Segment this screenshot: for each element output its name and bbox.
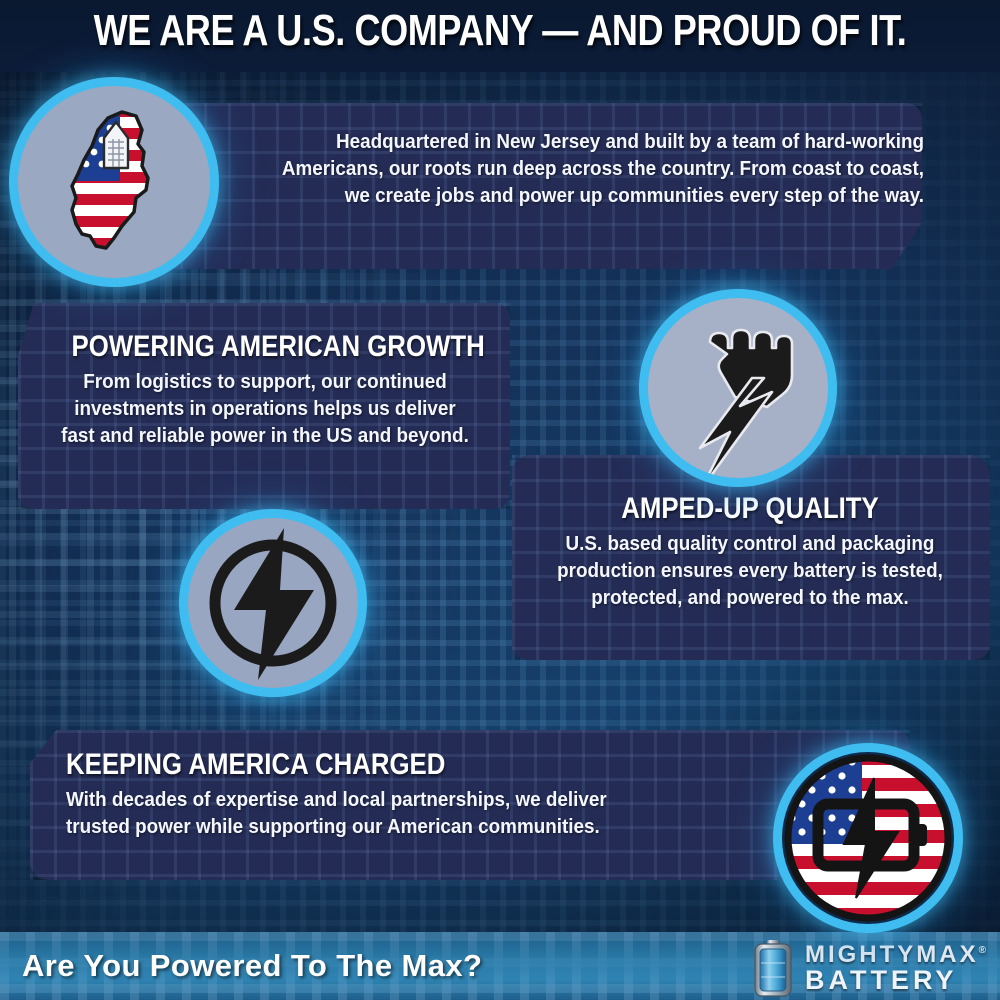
fist-lightning-bolt-icon: [648, 298, 828, 478]
page-title: WE ARE A U.S. COMPANY — AND PROUD OF IT.: [90, 6, 910, 56]
logo-line-2: BATTERY: [805, 967, 986, 994]
logo-line-1: MIGHTYMAX®: [805, 943, 986, 967]
flag-battery-charge-icon: [782, 752, 954, 924]
section-charged-body: With decades of expertise and local part…: [66, 786, 655, 840]
section-quality-text: AMPED-UP QUALITY U.S. based quality cont…: [520, 492, 980, 611]
bolt-ring-svg: [188, 518, 358, 688]
battery-logo-icon: [751, 939, 795, 997]
nj-map-svg: [18, 86, 210, 278]
flag-battery-svg: [782, 752, 954, 924]
section-growth-text: POWERING AMERICAN GROWTH From logistics …: [40, 330, 490, 449]
section-headquarters-body: Headquartered in New Jersey and built by…: [258, 128, 924, 209]
section-charged-text: KEEPING AMERICA CHARGED With decades of …: [66, 748, 706, 840]
fist-bolt-svg: [648, 298, 828, 478]
footer-band: Are You Powered To The Max?: [0, 932, 1000, 1000]
lightning-bolt-circle-icon: [188, 518, 358, 688]
section-growth-title: POWERING AMERICAN GROWTH: [72, 330, 459, 364]
brand-logo[interactable]: MIGHTYMAX® BATTERY: [751, 938, 986, 998]
section-growth-body: From logistics to support, our continued…: [58, 368, 472, 449]
infographic-canvas: WE ARE A U.S. COMPANY — AND PROUD OF IT.…: [0, 0, 1000, 1000]
section-quality-body: U.S. based quality control and packaging…: [538, 530, 961, 611]
new-jersey-flag-map-icon: [18, 86, 210, 278]
section-charged-title: KEEPING AMERICA CHARGED: [66, 748, 616, 782]
footer-tagline: Are You Powered To The Max?: [22, 948, 482, 984]
section-headquarters-text: Headquartered in New Jersey and built by…: [200, 128, 924, 209]
logo-wordmark: MIGHTYMAX® BATTERY: [805, 943, 986, 994]
section-quality-title: AMPED-UP QUALITY: [552, 492, 948, 526]
